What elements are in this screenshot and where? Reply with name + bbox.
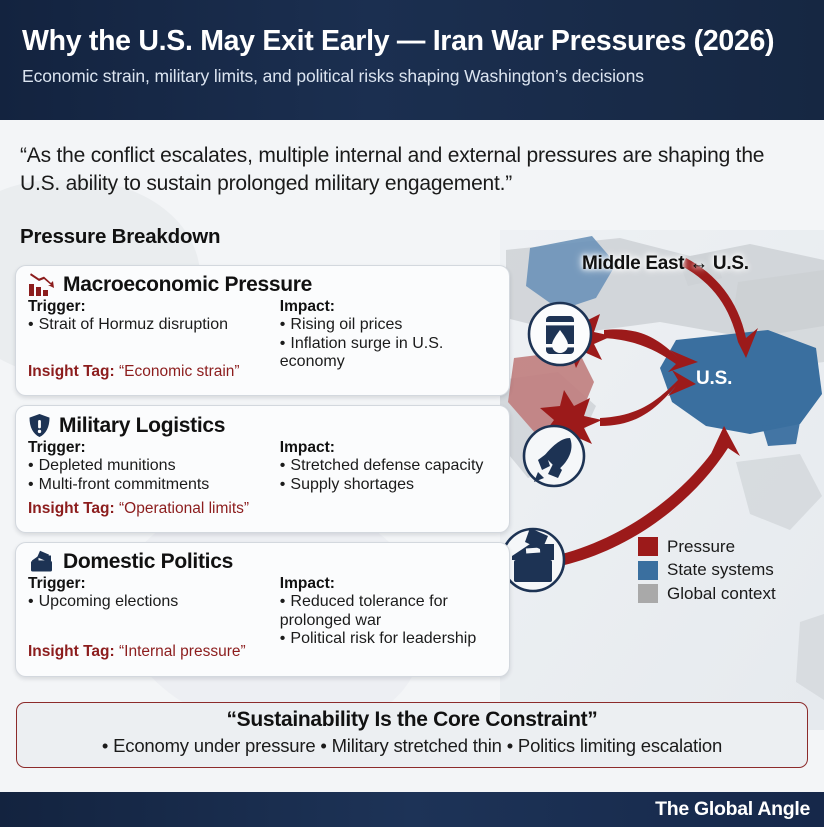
impact-label: Impact: bbox=[280, 298, 497, 316]
legend-item: Pressure bbox=[638, 535, 776, 559]
insight-tag-label: Insight Tag: bbox=[28, 363, 115, 380]
insight-tag-value: “Operational limits” bbox=[119, 500, 249, 517]
legend-item: State systems bbox=[638, 559, 776, 583]
impact-column: Impact: Stretched defense capacity Suppl… bbox=[280, 439, 497, 494]
page-title: Why the U.S. May Exit Early — Iran War P… bbox=[22, 26, 802, 57]
impact-list: Rising oil prices Inflation surge in U.S… bbox=[280, 316, 497, 372]
content-area: “As the conflict escalates, multiple int… bbox=[0, 120, 824, 792]
map-us-label: U.S. bbox=[696, 368, 732, 390]
map-panel: Middle East ↔ U.S. U.S. Pressure State s… bbox=[500, 230, 824, 730]
trigger-label: Trigger: bbox=[28, 439, 280, 457]
card-header: Military Logistics bbox=[28, 413, 497, 438]
insight-tag: Insight Tag: “Operational limits” bbox=[28, 500, 249, 518]
ballot-box-icon bbox=[502, 528, 564, 591]
card-columns: Trigger: Strait of Hormuz disruption Imp… bbox=[28, 298, 497, 372]
ballot-box-icon bbox=[28, 550, 55, 574]
legend-swatch-pressure bbox=[638, 537, 658, 556]
shield-alert-icon bbox=[28, 413, 51, 438]
list-item: Stretched defense capacity bbox=[280, 457, 497, 476]
insight-tag-value: “Economic strain” bbox=[119, 363, 240, 380]
declining-bar-chart-icon bbox=[28, 273, 55, 297]
list-item: Strait of Hormuz disruption bbox=[28, 316, 280, 335]
insight-tag: Insight Tag: “Economic strain” bbox=[28, 363, 240, 381]
infographic-page: Why the U.S. May Exit Early — Iran War P… bbox=[0, 0, 824, 827]
legend-label: Global context bbox=[667, 584, 776, 604]
missile-icon bbox=[524, 426, 584, 486]
card-columns: Trigger: Depleted munitions Multi-front … bbox=[28, 439, 497, 494]
insight-tag-value: “Internal pressure” bbox=[119, 643, 246, 660]
trigger-column: Trigger: Depleted munitions Multi-front … bbox=[28, 439, 280, 494]
trigger-list: Depleted munitions Multi-front commitmen… bbox=[28, 457, 280, 494]
trigger-label: Trigger: bbox=[28, 298, 280, 316]
world-map-svg bbox=[500, 230, 824, 730]
impact-list: Stretched defense capacity Supply shorta… bbox=[280, 457, 497, 494]
list-item: Depleted munitions bbox=[28, 457, 280, 476]
impact-column: Impact: Reduced tolerance for prolonged … bbox=[280, 575, 497, 649]
trigger-list: Strait of Hormuz disruption bbox=[28, 316, 280, 335]
pressure-card-macroeconomic[interactable]: Macroeconomic Pressure Trigger: Strait o… bbox=[15, 265, 510, 396]
trigger-column: Trigger: Upcoming elections bbox=[28, 575, 280, 649]
oil-barrel-icon bbox=[529, 303, 591, 365]
pressure-card-military-logistics[interactable]: Military Logistics Trigger: Depleted mun… bbox=[15, 405, 510, 533]
section-heading: Pressure Breakdown bbox=[20, 225, 220, 249]
impact-column: Impact: Rising oil prices Inflation surg… bbox=[280, 298, 497, 372]
list-item: Reduced tolerance for prolonged war bbox=[280, 593, 497, 630]
list-item: Political risk for leadership bbox=[280, 630, 497, 649]
impact-label: Impact: bbox=[280, 575, 497, 593]
card-header: Macroeconomic Pressure bbox=[28, 273, 497, 297]
list-item: Rising oil prices bbox=[280, 316, 497, 335]
footer-bar: The Global Angle bbox=[0, 792, 824, 827]
insight-tag-label: Insight Tag: bbox=[28, 643, 115, 660]
pressure-card-domestic-politics[interactable]: Domestic Politics Trigger: Upcoming elec… bbox=[15, 542, 510, 677]
card-title: Domestic Politics bbox=[63, 550, 233, 573]
summary-box: “Sustainability Is the Core Constraint” … bbox=[16, 702, 808, 768]
list-item: Inflation surge in U.S. economy bbox=[280, 335, 497, 372]
map-legend: Pressure State systems Global context bbox=[638, 535, 776, 606]
legend-label: Pressure bbox=[667, 537, 735, 557]
summary-points: • Economy under pressure • Military stre… bbox=[17, 735, 807, 757]
insight-tag-label: Insight Tag: bbox=[28, 500, 115, 517]
brand-name: The Global Angle bbox=[655, 798, 810, 821]
list-item: Multi-front commitments bbox=[28, 476, 280, 495]
card-title: Macroeconomic Pressure bbox=[63, 273, 312, 296]
list-item: Upcoming elections bbox=[28, 593, 280, 612]
trigger-label: Trigger: bbox=[28, 575, 280, 593]
map-title: Middle East ↔ U.S. bbox=[582, 253, 749, 275]
list-item: Supply shortages bbox=[280, 476, 497, 495]
impact-list: Reduced tolerance for prolonged war Poli… bbox=[280, 593, 497, 649]
card-header: Domestic Politics bbox=[28, 550, 497, 574]
summary-title: “Sustainability Is the Core Constraint” bbox=[17, 708, 807, 732]
trigger-list: Upcoming elections bbox=[28, 593, 280, 612]
card-title: Military Logistics bbox=[59, 414, 225, 437]
header-banner: Why the U.S. May Exit Early — Iran War P… bbox=[0, 0, 824, 120]
insight-tag: Insight Tag: “Internal pressure” bbox=[28, 643, 246, 661]
trigger-column: Trigger: Strait of Hormuz disruption bbox=[28, 298, 280, 372]
impact-label: Impact: bbox=[280, 439, 497, 457]
legend-label: State systems bbox=[667, 560, 774, 580]
legend-swatch-global-context bbox=[638, 584, 658, 603]
legend-swatch-state-systems bbox=[638, 561, 658, 580]
page-subtitle: Economic strain, military limits, and po… bbox=[22, 66, 802, 87]
usa-shape-south bbox=[762, 422, 800, 446]
legend-item: Global context bbox=[638, 582, 776, 606]
pull-quote: “As the conflict escalates, multiple int… bbox=[20, 142, 780, 198]
card-columns: Trigger: Upcoming elections Impact: Redu… bbox=[28, 575, 497, 649]
